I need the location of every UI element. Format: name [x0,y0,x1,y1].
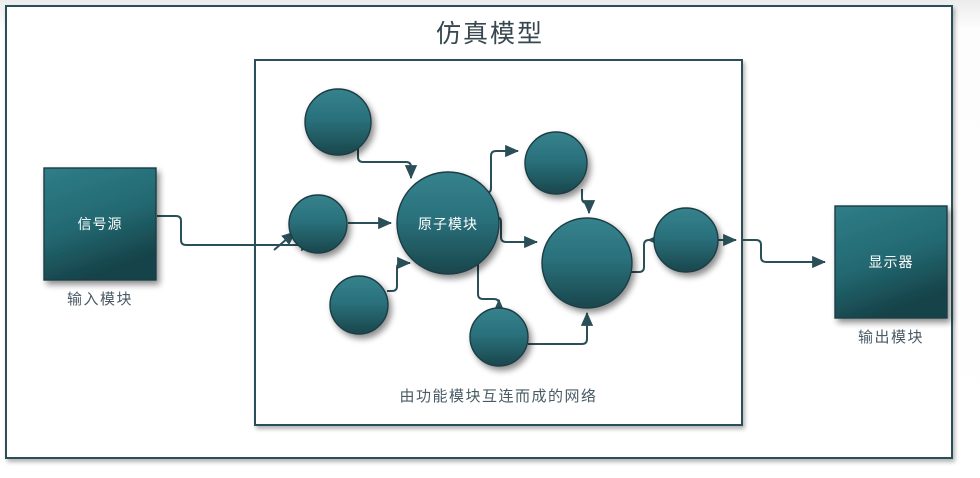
caption-output-module: 输出模块 [831,326,951,347]
block-display[interactable] [835,206,947,318]
diagram-canvas: 仿真模型 信号源 显示器 原子模块 输入模块 输出模块 由功能模块互连而成的网络 [0,0,980,478]
node-circle-mid-left[interactable] [289,195,347,253]
caption-network: 由功能模块互连而成的网络 [255,385,742,406]
diagram-svg [0,0,980,478]
node-circle-far-right[interactable] [654,208,718,272]
node-circle-top-right[interactable] [525,132,587,194]
node-circle-bottom-center[interactable] [470,308,528,366]
node-circle-lower-left[interactable] [330,276,388,334]
node-circle-top-left[interactable] [305,89,371,155]
page-title: 仿真模型 [0,14,980,50]
caption-input-module: 输入模块 [40,288,160,309]
block-signal-source[interactable] [44,168,156,280]
node-atomic-module[interactable] [397,172,499,274]
node-circle-center-right[interactable] [542,218,632,308]
